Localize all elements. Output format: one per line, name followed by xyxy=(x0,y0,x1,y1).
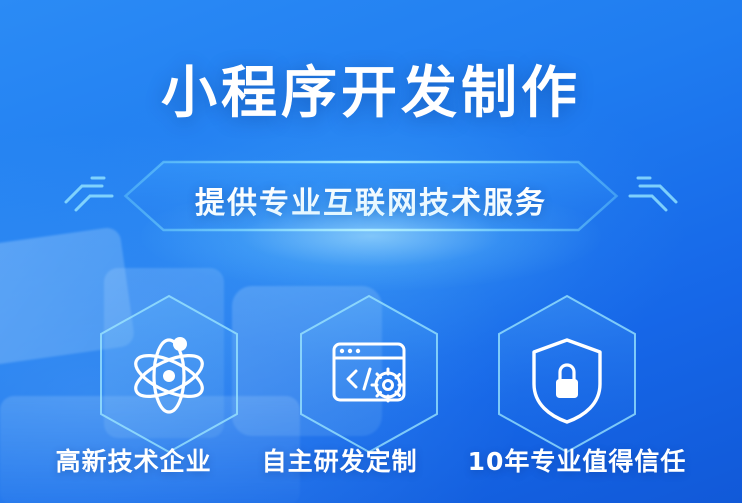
feature-hex-1 xyxy=(96,292,242,456)
feature-label-1: 高新技术企业 xyxy=(56,442,212,478)
feature-hex-2 xyxy=(296,292,442,456)
subtitle-ribbon-wrap: 提供专业互联网技术服务 xyxy=(0,160,742,246)
feature-labels: 高新技术企业 自主研发定制 10年专业值得信任 xyxy=(0,440,742,480)
promo-banner: 小程序开发制作 xyxy=(0,0,742,503)
feature-label-2: 自主研发定制 xyxy=(262,442,418,478)
feature-label-3: 10年专业值得信任 xyxy=(468,442,687,478)
banner-title: 小程序开发制作 xyxy=(0,48,742,129)
banner-subtitle: 提供专业互联网技术服务 xyxy=(0,178,742,222)
feature-hex-3 xyxy=(494,292,640,456)
